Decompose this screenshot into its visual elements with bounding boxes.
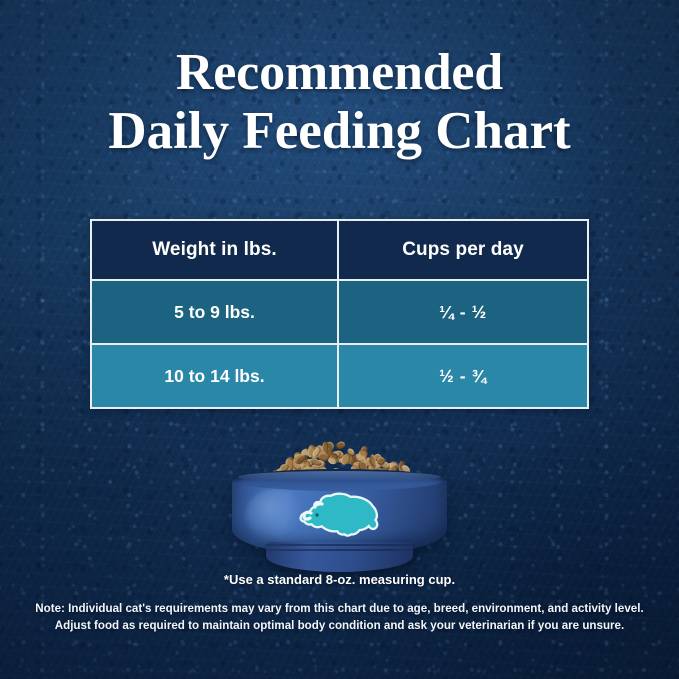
table-row: 10 to 14 lbs. ½ - ¾ [92, 343, 587, 407]
bowl-rim-highlight [238, 471, 441, 483]
bowl-gloss-highlight [246, 489, 304, 541]
table-header-cups: Cups per day [337, 221, 587, 279]
table-row: 5 to 9 lbs. ¼ - ½ [92, 279, 587, 343]
disclaimer-line-2: Adjust food as required to maintain opti… [0, 617, 679, 634]
table-header-weight: Weight in lbs. [92, 221, 337, 279]
cell-weight-row-1: 5 to 9 lbs. [92, 281, 337, 343]
measuring-cup-note: *Use a standard 8-oz. measuring cup. [0, 572, 679, 587]
feeding-table: Weight in lbs. Cups per day 5 to 9 lbs. … [90, 219, 589, 409]
feeding-chart-graphic: Recommended Daily Feeding Chart Weight i… [0, 0, 679, 679]
food-bowl-illustration [232, 437, 447, 572]
bowl-foot [266, 542, 413, 572]
page-title-line-2: Daily Feeding Chart [0, 102, 679, 160]
disclaimer-line-1: Note: Individual cat's requirements may … [0, 600, 679, 617]
disclaimer-note: Note: Individual cat's requirements may … [0, 600, 679, 634]
cell-cups-row-1: ¼ - ½ [337, 281, 587, 343]
cell-weight-row-2: 10 to 14 lbs. [92, 345, 337, 407]
bowl-base-ring [264, 544, 415, 546]
page-title-line-1: Recommended [0, 44, 679, 102]
page-title: Recommended Daily Feeding Chart [0, 44, 679, 160]
buffalo-logo-icon [298, 491, 384, 537]
cell-cups-row-2: ½ - ¾ [337, 345, 587, 407]
table-header-row: Weight in lbs. Cups per day [92, 221, 587, 279]
bowl-base-ring [266, 549, 413, 551]
